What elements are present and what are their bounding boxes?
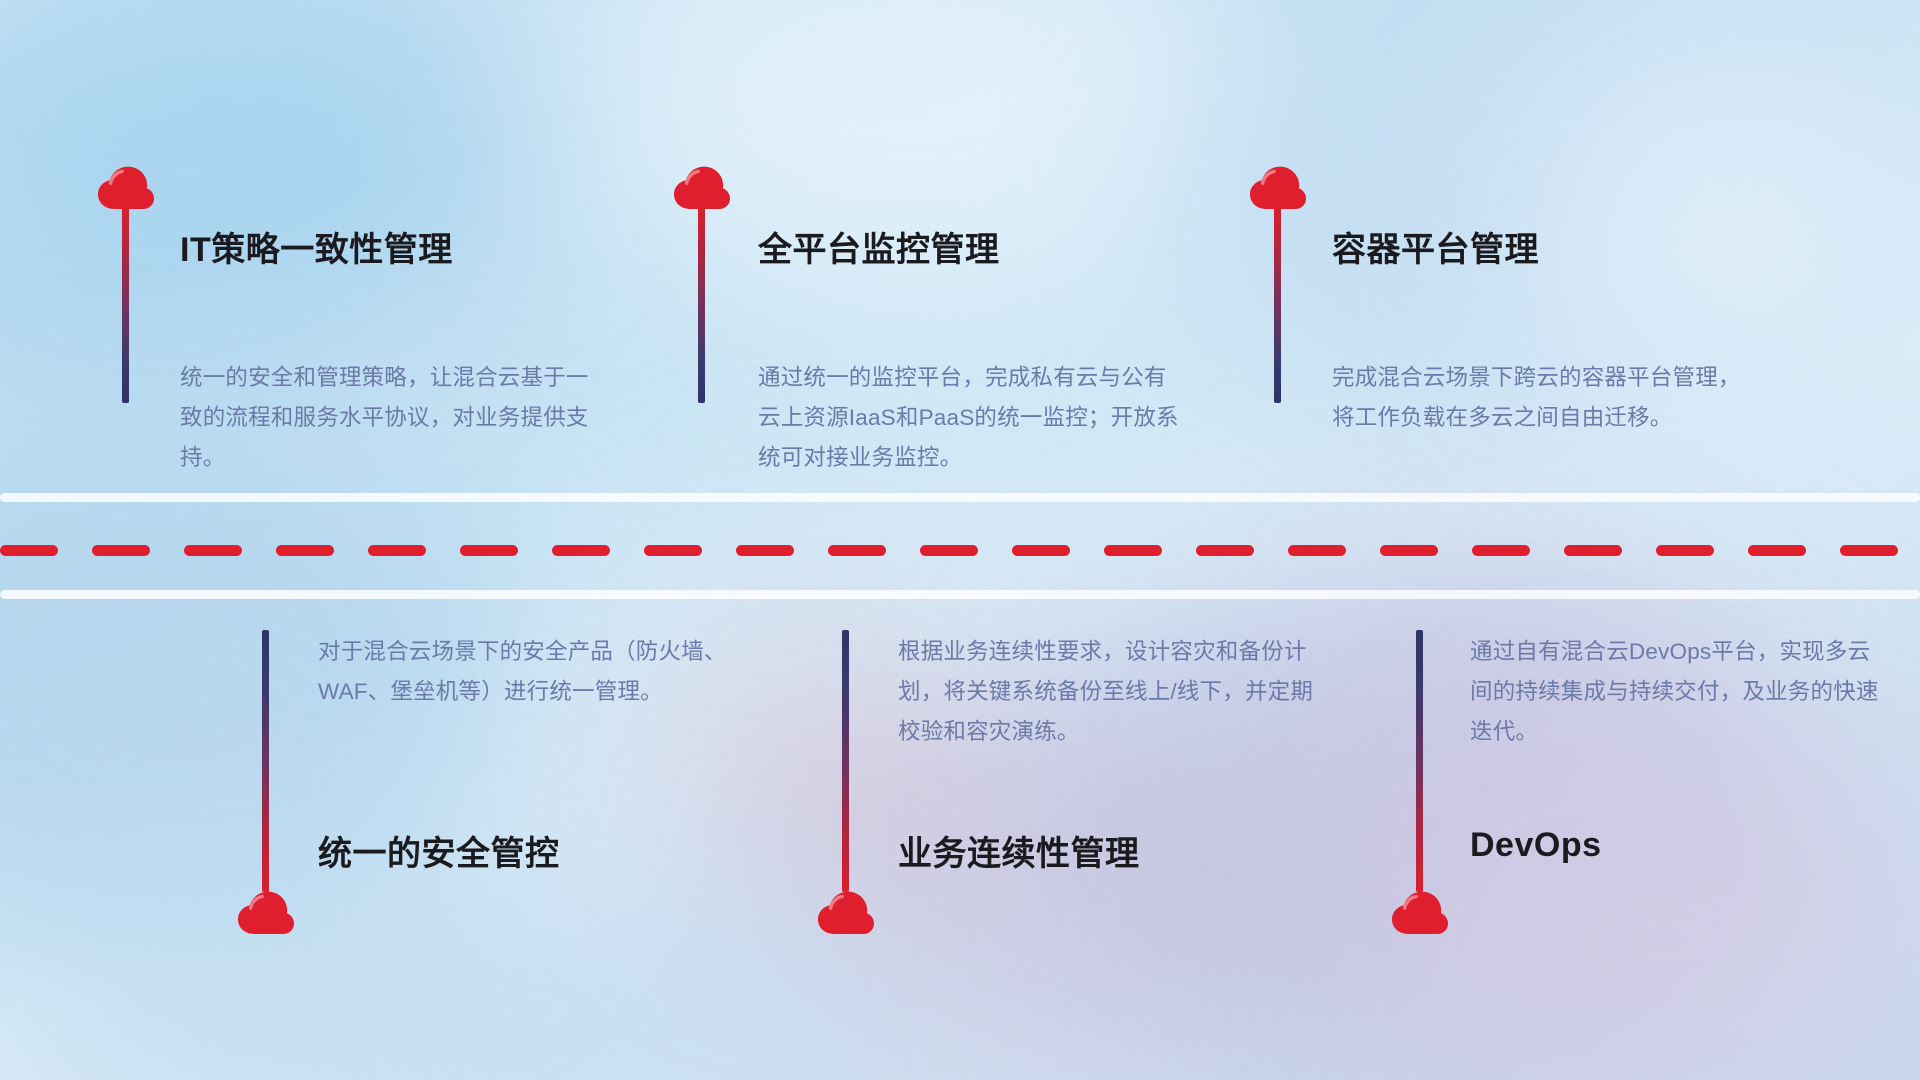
heading-devops: DevOps xyxy=(1470,826,1602,865)
divider-dash xyxy=(92,545,150,556)
connector-line-top-1 xyxy=(122,207,129,403)
divider-dash xyxy=(1472,545,1530,556)
divider-dash xyxy=(920,545,978,556)
cloud-pin-icon xyxy=(672,163,732,211)
cloud-pin-icon xyxy=(816,888,876,936)
divider-rule-upper xyxy=(0,493,1920,502)
body-business-continuity: 根据业务连续性要求，设计容灾和备份计划，将关键系统备份至线上/线下，并定期校验和… xyxy=(898,632,1318,752)
divider-dash xyxy=(1196,545,1254,556)
divider-dash xyxy=(828,545,886,556)
connector-line-bottom-3 xyxy=(1416,630,1423,892)
divider-dash xyxy=(0,545,58,556)
divider-dash xyxy=(368,545,426,556)
cloud-pin-icon xyxy=(1248,163,1308,211)
divider-dash xyxy=(736,545,794,556)
cloud-pin-icon xyxy=(236,888,296,936)
divider-dash xyxy=(1564,545,1622,556)
divider-dash xyxy=(644,545,702,556)
infographic-canvas: IT策略一致性管理 统一的安全和管理策略，让混合云基于一致的流程和服务水平协议，… xyxy=(0,0,1920,1080)
divider-dashed-line xyxy=(0,545,1920,556)
body-it-policy-consistency: 统一的安全和管理策略，让混合云基于一致的流程和服务水平协议，对业务提供支持。 xyxy=(180,358,600,478)
divider-dash xyxy=(184,545,242,556)
heading-it-policy-consistency: IT策略一致性管理 xyxy=(180,222,453,271)
heading-full-platform-monitoring: 全平台监控管理 xyxy=(758,222,1000,271)
divider-rule-lower xyxy=(0,590,1920,599)
body-container-platform: 完成混合云场景下跨云的容器平台管理，将工作负载在多云之间自由迁移。 xyxy=(1332,358,1762,438)
body-devops: 通过自有混合云DevOps平台，实现多云间的持续集成与持续交付，及业务的快速迭代… xyxy=(1470,632,1890,752)
divider-dash xyxy=(1748,545,1806,556)
heading-unified-security: 统一的安全管控 xyxy=(318,826,560,875)
divider-dash xyxy=(276,545,334,556)
divider-dash xyxy=(552,545,610,556)
divider-dash xyxy=(1012,545,1070,556)
divider-dash xyxy=(1380,545,1438,556)
body-unified-security: 对于混合云场景下的安全产品（防火墙、WAF、堡垒机等）进行统一管理。 xyxy=(318,632,738,712)
connector-line-bottom-1 xyxy=(262,630,269,892)
connector-line-top-2 xyxy=(698,207,705,403)
divider-dash xyxy=(1840,545,1898,556)
connector-line-top-3 xyxy=(1274,207,1281,403)
heading-business-continuity: 业务连续性管理 xyxy=(898,826,1140,875)
divider-dash xyxy=(460,545,518,556)
body-full-platform-monitoring: 通过统一的监控平台，完成私有云与公有云上资源IaaS和PaaS的统一监控；开放系… xyxy=(758,358,1188,478)
cloud-pin-icon xyxy=(96,163,156,211)
divider-dash xyxy=(1656,545,1714,556)
cloud-pin-icon xyxy=(1390,888,1450,936)
heading-container-platform: 容器平台管理 xyxy=(1332,222,1539,271)
connector-line-bottom-2 xyxy=(842,630,849,892)
divider-dash xyxy=(1104,545,1162,556)
divider-dash xyxy=(1288,545,1346,556)
